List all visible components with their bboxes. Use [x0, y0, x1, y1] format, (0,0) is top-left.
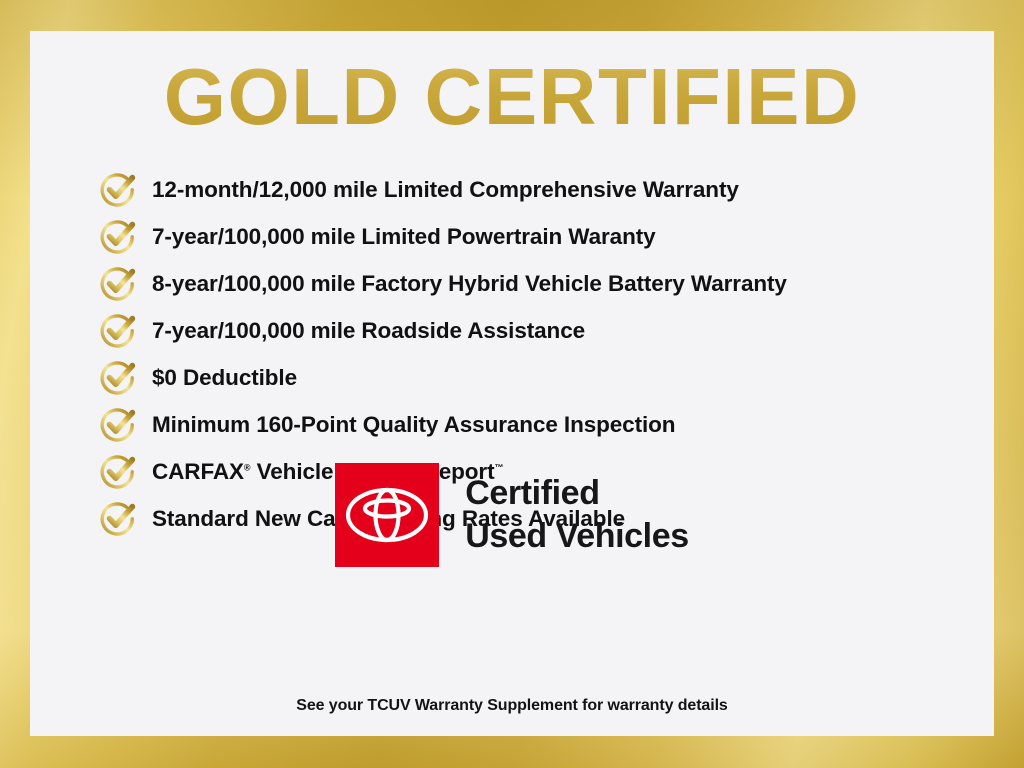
check-circle-icon — [96, 356, 140, 400]
check-circle-icon — [96, 215, 140, 259]
list-item: 7-year/100,000 mile Roadside Assistance — [96, 307, 976, 354]
poster-card: GOLD CERTIFIED — [30, 31, 994, 736]
toyota-emblem-icon — [335, 463, 439, 567]
list-item-label: 12-month/12,000 mile Limited Comprehensi… — [152, 177, 739, 203]
list-item-label: 8-year/100,000 mile Factory Hybrid Vehic… — [152, 271, 787, 297]
check-circle-icon — [96, 403, 140, 447]
list-item-label: 7-year/100,000 mile Roadside Assistance — [152, 318, 585, 344]
check-circle-icon — [96, 309, 140, 353]
toyota-logo-wordmark: Certified Used Vehicles — [465, 472, 689, 558]
warranty-disclaimer: See your TCUV Warranty Supplement for wa… — [30, 697, 994, 715]
list-item: Minimum 160-Point Quality Assurance Insp… — [96, 401, 976, 448]
gold-certified-poster: GOLD CERTIFIED — [0, 0, 1024, 768]
page-title: GOLD CERTIFIED — [30, 49, 994, 145]
list-item-label: $0 Deductible — [152, 365, 297, 391]
list-item: $0 Deductible — [96, 354, 976, 401]
toyota-logo-line2: Used Vehicles — [465, 515, 689, 558]
check-circle-icon — [96, 168, 140, 212]
list-item: 12-month/12,000 mile Limited Comprehensi… — [96, 166, 976, 213]
list-item: 8-year/100,000 mile Factory Hybrid Vehic… — [96, 260, 976, 307]
list-item-label: Minimum 160-Point Quality Assurance Insp… — [152, 412, 675, 438]
toyota-certified-used-vehicles-logo: Certified Used Vehicles — [30, 463, 994, 567]
check-circle-icon — [96, 262, 140, 306]
toyota-logo-line1: Certified — [465, 472, 689, 515]
list-item-label: 7-year/100,000 mile Limited Powertrain W… — [152, 224, 656, 250]
list-item: 7-year/100,000 mile Limited Powertrain W… — [96, 213, 976, 260]
